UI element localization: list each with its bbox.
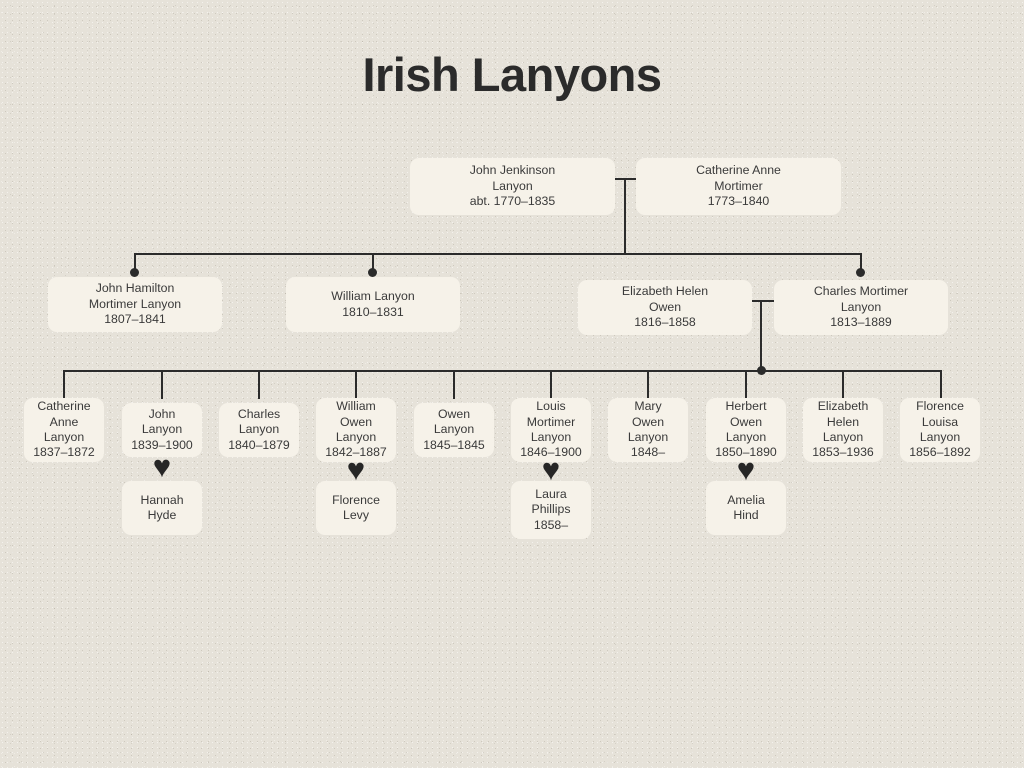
person-name-line3: Lanyon [710,430,782,445]
drop-line-gen3-3 [258,370,260,399]
connector-dot-gen2-2 [368,268,377,277]
person-name-line3: Lanyon [28,430,100,445]
person-dates: 1845–1845 [418,438,490,453]
person-name-line1: Catherine Anne [640,163,837,178]
person-name-line2: Owen [582,300,748,315]
sibling-bar-gen3 [64,370,942,372]
person-name-line3: Lanyon [320,430,392,445]
person-dates: 1839–1900 [126,438,198,453]
person-node-florence-levy[interactable]: Florence Levy [316,481,396,535]
person-name-line1: Elizabeth Helen [582,284,748,299]
person-node-charles-mortimer-lanyon[interactable]: Charles Mortimer Lanyon 1813–1889 [774,280,948,335]
person-node-john-hamilton-mortimer-lanyon[interactable]: John Hamilton Mortimer Lanyon 1807–1841 [48,277,222,332]
drop-line-gen3-2 [161,370,163,399]
drop-line-gen3-10 [940,370,942,399]
person-name-line1: Herbert [710,399,782,414]
drop-line-gen3-1 [63,370,65,399]
person-name-line1: Charles [223,407,295,422]
person-name-line1: Florence [904,399,976,414]
drop-line-gen3-8 [745,370,747,399]
person-name-line1: Owen [418,407,490,422]
drop-line-gen3-7 [647,370,649,399]
person-node-catherine-anne-mortimer[interactable]: Catherine Anne Mortimer 1773–1840 [636,158,841,215]
person-node-elizabeth-helen-lanyon[interactable]: Elizabeth Helen Lanyon 1853–1936 [803,398,883,462]
person-name-line1: Catherine [28,399,100,414]
drop-line-gen3-6 [550,370,552,399]
person-node-florence-louisa-lanyon[interactable]: Florence Louisa Lanyon 1856–1892 [900,398,980,462]
person-node-john-jenkinson-lanyon[interactable]: John Jenkinson Lanyon abt. 1770–1835 [410,158,615,215]
heart-icon: ♥ [147,453,177,480]
person-name-line2: Lanyon [414,179,611,194]
person-name-line1: Florence [320,493,392,508]
person-node-hannah-hyde[interactable]: Hannah Hyde [122,481,202,535]
person-name-line2: Lanyon [126,422,198,437]
person-node-herbert-owen-lanyon[interactable]: Herbert Owen Lanyon 1850–1890 [706,398,786,462]
person-dates: 1840–1879 [223,438,295,453]
person-dates: 1858– [515,518,587,533]
person-name-line1: Hannah [126,493,198,508]
drop-line-gen3-9 [842,370,844,399]
person-name-line2: Louisa [904,415,976,430]
sibling-bar-gen2 [135,253,862,255]
person-name-line2: Lanyon [223,422,295,437]
person-node-william-lanyon[interactable]: William Lanyon 1810–1831 [286,277,460,332]
person-node-louis-mortimer-lanyon[interactable]: Louis Mortimer Lanyon 1846–1900 [511,398,591,462]
person-name-line1: John [126,407,198,422]
person-node-elizabeth-helen-owen[interactable]: Elizabeth Helen Owen 1816–1858 [578,280,752,335]
person-name-line3: Lanyon [515,430,587,445]
person-dates: 1848– [612,445,684,460]
person-dates: 1807–1841 [52,312,218,327]
person-node-mary-owen-lanyon[interactable]: Mary Owen Lanyon 1848– [608,398,688,462]
person-name-line2: Hind [710,508,782,523]
person-name-line3: Lanyon [904,430,976,445]
person-name-line2: Mortimer Lanyon [52,297,218,312]
page-title: Irish Lanyons [0,47,1024,102]
person-name-line1: Laura [515,487,587,502]
marriage-connector-horizontal-gen2 [752,300,774,302]
person-name-line3: Lanyon [612,430,684,445]
person-node-amelia-hind[interactable]: Amelia Hind [706,481,786,535]
marriage-connector-vertical-gen1 [624,178,626,254]
person-node-charles-lanyon[interactable]: Charles Lanyon 1840–1879 [219,403,299,457]
person-dates: abt. 1770–1835 [414,194,611,209]
person-node-owen-lanyon[interactable]: Owen Lanyon 1845–1845 [414,403,494,457]
person-name-line1: Charles Mortimer [778,284,944,299]
connector-dot-gen2-4 [856,268,865,277]
person-node-catherine-anne-lanyon[interactable]: Catherine Anne Lanyon 1837–1872 [24,398,104,462]
person-name-line2: Mortimer [515,415,587,430]
person-name-line3: Lanyon [807,430,879,445]
heart-icon: ♥ [341,456,371,483]
drop-line-gen3-4 [355,370,357,399]
connector-dot-gen2-1 [130,268,139,277]
person-name-line2: Lanyon [418,422,490,437]
person-name-line2: Anne [28,415,100,430]
person-dates: 1816–1858 [582,315,748,330]
person-name-line2: Owen [612,415,684,430]
person-name-line1: Louis [515,399,587,414]
person-dates: 1810–1831 [290,305,456,320]
person-dates: 1853–1936 [807,445,879,460]
person-node-john-lanyon[interactable]: John Lanyon 1839–1900 [122,403,202,457]
person-name-line2: Owen [320,415,392,430]
person-name-line2: Hyde [126,508,198,523]
person-dates: 1813–1889 [778,315,944,330]
person-name-line1: Elizabeth [807,399,879,414]
marriage-connector-vertical-gen2 [760,300,762,371]
person-name-line1: William [320,399,392,414]
person-name-line2: Phillips [515,502,587,517]
person-node-laura-phillips[interactable]: Laura Phillips 1858– [511,481,591,539]
person-dates: 1837–1872 [28,445,100,460]
person-name-line1: William Lanyon [290,289,456,304]
person-node-william-owen-lanyon[interactable]: William Owen Lanyon 1842–1887 [316,398,396,462]
person-name-line1: John Jenkinson [414,163,611,178]
drop-line-gen3-5 [453,370,455,399]
person-name-line1: Mary [612,399,684,414]
person-name-line2: Mortimer [640,179,837,194]
heart-icon: ♥ [731,456,761,483]
person-name-line1: Amelia [710,493,782,508]
person-name-line2: Helen [807,415,879,430]
person-dates: 1856–1892 [904,445,976,460]
person-dates: 1773–1840 [640,194,837,209]
person-name-line1: John Hamilton [52,281,218,296]
person-name-line2: Owen [710,415,782,430]
chart-background [0,0,1024,768]
heart-icon: ♥ [536,456,566,483]
person-name-line2: Lanyon [778,300,944,315]
person-name-line2: Levy [320,508,392,523]
